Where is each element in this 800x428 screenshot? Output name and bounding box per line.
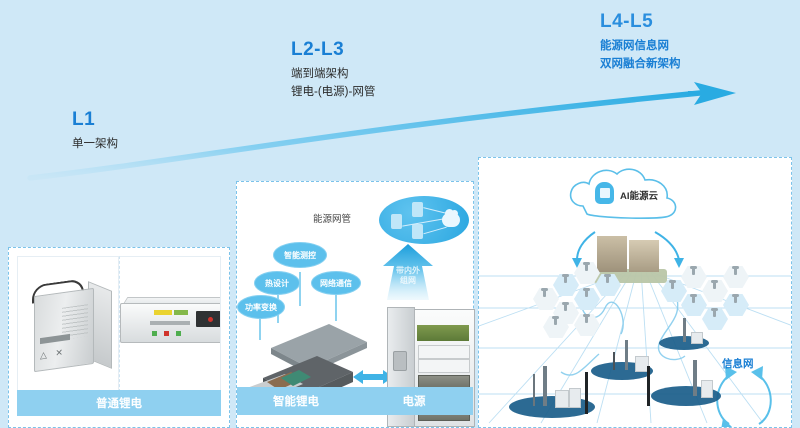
stage-code: L1 xyxy=(72,110,118,131)
label-energy-network: 能源网 xyxy=(722,426,754,427)
bubble-stem xyxy=(299,272,301,306)
stage-code: L4-L5 xyxy=(600,12,681,33)
infographic-canvas: L1 单一架构 L2-L3 端到端架构 锂电-(电源)-网管 L4-L5 能源网… xyxy=(0,0,800,428)
stage-label-l4-l5: L4-L5 能源网信息网 双网融合新架构 xyxy=(600,12,681,74)
panel-l2-captions: 智能锂电 电源 xyxy=(237,387,473,415)
battery-cabinet-photo: △ ✕ xyxy=(17,256,119,392)
stage-sub-line: 端到端架构 xyxy=(291,66,375,84)
ai-energy-cloud-label: AI能源云 xyxy=(620,188,658,202)
stage-sub-line: 双网融合新架构 xyxy=(600,56,681,74)
battery-module-icon: △ ✕ xyxy=(20,276,116,372)
energy-network-management-label: 能源网管 xyxy=(313,211,351,225)
network-topology-icon xyxy=(379,196,469,244)
hex-cluster-left xyxy=(533,262,629,338)
stage-sub-line: 锂电-(电源)-网管 xyxy=(291,84,375,102)
stage-label-l2-l3: L2-L3 端到端架构 锂电-(电源)-网管 xyxy=(291,40,375,102)
rack-module-icon xyxy=(120,293,220,355)
arrow-up-icon: 带内外 组网 xyxy=(377,244,439,300)
feature-bubble-network-comm[interactable]: 网络通信 xyxy=(311,271,361,295)
base-station-tower xyxy=(659,318,709,350)
ai-head-icon xyxy=(595,182,614,204)
arrow-up-text: 带内外 组网 xyxy=(377,266,439,286)
stage-sub-line: 单一架构 xyxy=(72,136,118,154)
panel-l1-caption: 普通锂电 xyxy=(17,390,221,416)
label-information-network: 信息网 xyxy=(722,356,754,371)
stage-code: L2-L3 xyxy=(291,40,375,61)
base-station-tower xyxy=(509,366,595,418)
feature-bubble-thermal-design[interactable]: 热设计 xyxy=(254,271,300,295)
panel-l2-smart-lithium: 能源网管 xyxy=(236,181,474,428)
caption-power-supply: 电源 xyxy=(355,393,473,409)
panel-l4-energy-information-network: AI能源云 xyxy=(478,157,792,428)
feature-bubble-smart-control[interactable]: 智能测控 xyxy=(273,242,327,268)
caption-smart-lithium: 智能锂电 xyxy=(237,393,355,409)
product-photo-row: △ ✕ xyxy=(17,256,221,392)
stage-sub-line: 能源网信息网 xyxy=(600,38,681,56)
stage-label-l1: L1 单一架构 xyxy=(72,110,118,154)
panel-l1-basic-lithium: △ ✕ 普通锂电 xyxy=(8,247,230,428)
base-station-tower xyxy=(641,360,721,408)
rack-unit-photo xyxy=(119,256,221,392)
